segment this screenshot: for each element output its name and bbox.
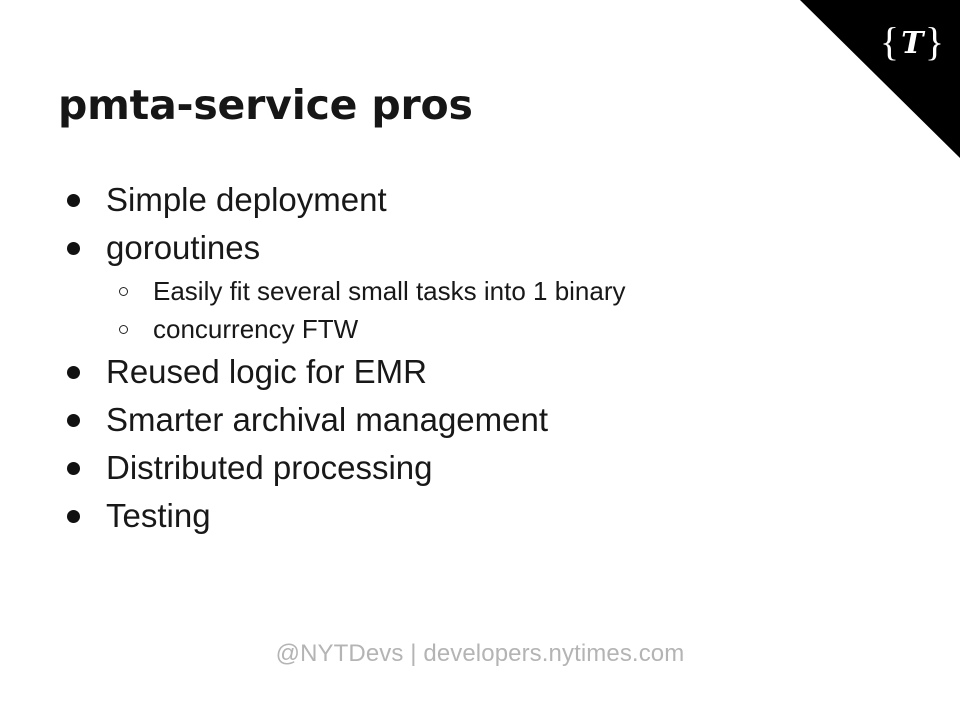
- logo-brace-open: {: [880, 22, 899, 62]
- logo-t-mark: T: [899, 29, 925, 59]
- list-item-label: Distributed processing: [106, 449, 433, 486]
- list-item-label: concurrency FTW: [153, 314, 358, 344]
- list-item: Easily fit several small tasks into 1 bi…: [58, 272, 898, 310]
- filled-disc-icon: [64, 176, 82, 224]
- list-item: Smarter archival management: [58, 396, 898, 444]
- filled-disc-icon: [64, 224, 82, 272]
- list-item: Distributed processing: [58, 444, 898, 492]
- page-title: pmta-service pros: [58, 82, 473, 129]
- list-item-label: Smarter archival management: [106, 401, 548, 438]
- list-item: goroutines: [58, 224, 898, 272]
- filled-disc-icon: [64, 396, 82, 444]
- filled-disc-icon: [64, 348, 82, 396]
- hollow-circle-icon: [115, 272, 131, 310]
- list-item: Reused logic for EMR: [58, 348, 898, 396]
- list-item: Simple deployment: [58, 176, 898, 224]
- list-item: concurrency FTW: [58, 310, 898, 348]
- list-item-label: Reused logic for EMR: [106, 353, 427, 390]
- hollow-circle-icon: [115, 310, 131, 348]
- filled-disc-icon: [64, 492, 82, 540]
- list-item-label: Testing: [106, 497, 211, 534]
- list-item-label: goroutines: [106, 229, 260, 266]
- slide: { T } pmta-service pros Simple deploymen…: [0, 0, 960, 720]
- logo-brace-close: }: [925, 22, 944, 62]
- bullet-list: Simple deployment goroutines Easily fit …: [58, 176, 898, 540]
- list-item-label: Simple deployment: [106, 181, 387, 218]
- filled-disc-icon: [64, 444, 82, 492]
- nyt-developers-logo-icon: { T }: [874, 14, 950, 72]
- slide-footer: @NYTDevs | developers.nytimes.com: [0, 640, 960, 669]
- list-item-label: Easily fit several small tasks into 1 bi…: [153, 276, 626, 306]
- list-item: Testing: [58, 492, 898, 540]
